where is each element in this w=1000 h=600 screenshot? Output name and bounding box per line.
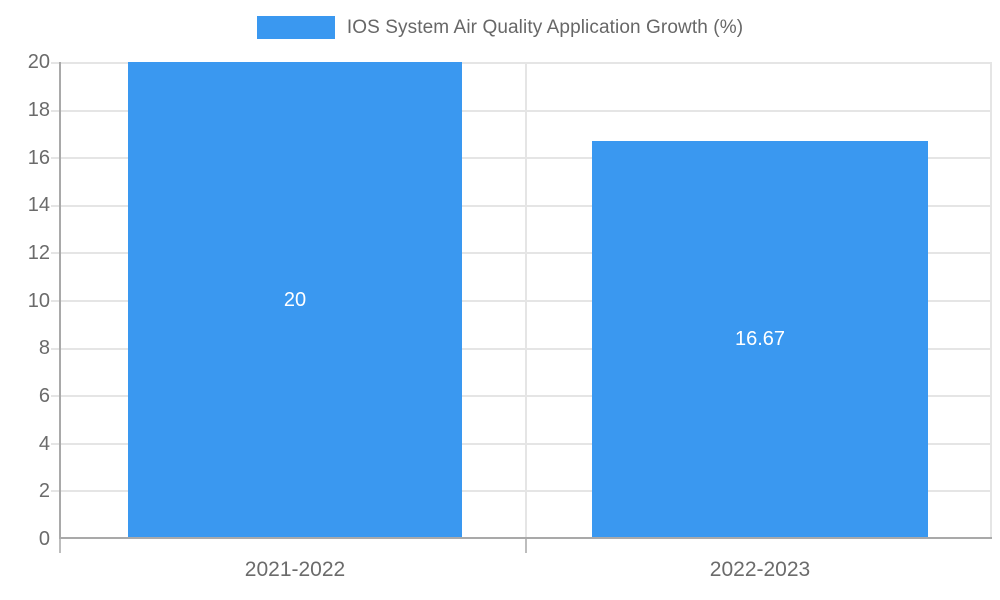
plot-area: 20 16.67 [60,62,992,538]
legend-swatch-series-0 [257,16,335,39]
bar-2021-2022[interactable]: 20 [128,62,462,538]
gridline-x-right-edge [990,62,992,538]
legend-label-series-0: IOS System Air Quality Application Growt… [347,16,743,39]
y-tick-label-6: 6 [4,386,50,406]
y-tick-label-14: 14 [4,195,50,215]
y-tick-label-0: 0 [4,529,50,549]
bar-value-label-2021-2022: 20 [128,290,462,310]
x-tick-label-2021-2022: 2021-2022 [128,558,462,582]
gridline-x-category-divider [525,62,527,538]
y-tick-label-10: 10 [4,291,50,311]
y-tick-label-18: 18 [4,100,50,120]
y-tick-label-2: 2 [4,481,50,501]
y-axis-origin-tick [59,539,61,553]
y-tick-label-8: 8 [4,338,50,358]
x-axis-line [60,537,992,539]
bar-2022-2023[interactable]: 16.67 [592,141,928,538]
bar-value-label-2022-2023: 16.67 [592,329,928,349]
x-tick-label-2022-2023: 2022-2023 [592,558,928,582]
y-tick-label-20: 20 [4,52,50,72]
x-tick-mark-divider [525,539,527,553]
y-tick-label-16: 16 [4,148,50,168]
y-tick-label-12: 12 [4,243,50,263]
y-axis-line [59,62,61,539]
y-tick-label-4: 4 [4,434,50,454]
chart-legend: IOS System Air Quality Application Growt… [0,12,1000,42]
bar-chart: IOS System Air Quality Application Growt… [0,0,1000,600]
